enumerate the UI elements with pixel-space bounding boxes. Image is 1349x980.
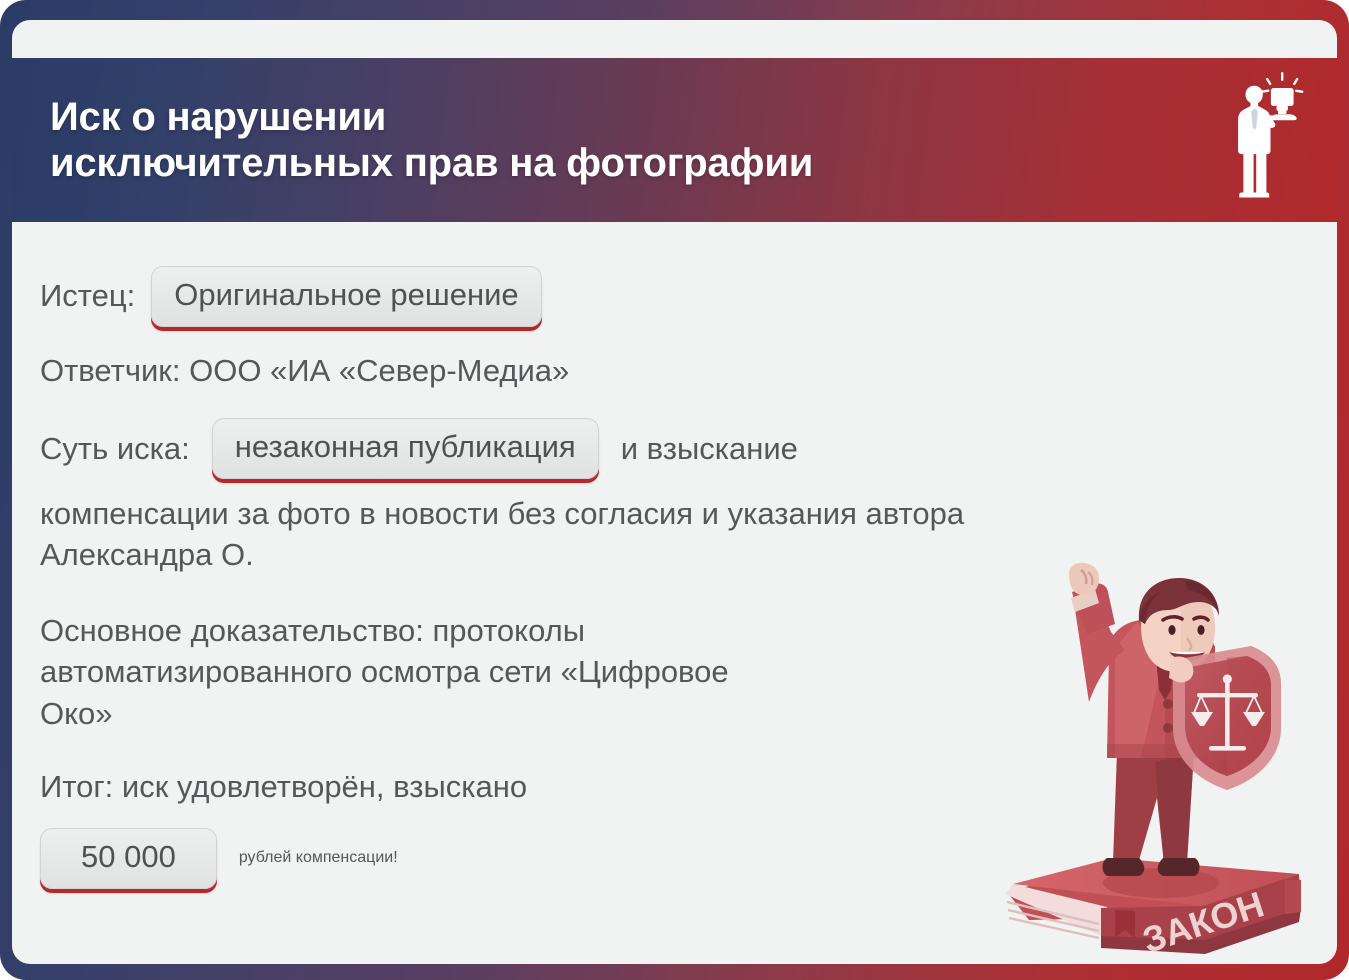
- poster-frame: Иск о нарушении исключительных прав на ф…: [0, 0, 1349, 980]
- claim-after-pill-text: и взыскание: [621, 429, 798, 469]
- compensation-suffix-text: рублей компенсации!: [239, 849, 398, 867]
- shield-outer: [1173, 646, 1281, 790]
- defendant-row: Ответчик: ООО «ИА «Север-Медиа»: [40, 351, 1307, 391]
- claim-continuation-text: компенсации за фото в новости без соглас…: [40, 493, 1085, 576]
- shield-inner: [1185, 656, 1271, 776]
- defendant-text: Ответчик: ООО «ИА «Север-Медиа»: [40, 351, 569, 391]
- plaintiff-label: Истец:: [40, 276, 135, 316]
- amount-row: 50 000 рублей компенсации!: [40, 828, 1307, 889]
- lawyer-with-justice-shield-illustration: ЗАКОН: [989, 562, 1319, 962]
- claim-pill[interactable]: незаконная публикация: [212, 418, 599, 479]
- page-title: Иск о нарушении исключительных прав на ф…: [50, 94, 813, 187]
- scales-of-justice-icon: [1191, 674, 1265, 750]
- claim-row: Суть иска: незаконная публикация и взыск…: [40, 418, 1307, 479]
- evidence-text: Основное доказательство: протоколы автом…: [40, 610, 800, 735]
- claim-label: Суть иска:: [40, 429, 190, 469]
- result-text: Итог: иск удовлетворён, взыскано: [40, 766, 1080, 808]
- book-label: ЗАКОН: [1138, 883, 1269, 960]
- content-card: Иск о нарушении исключительных прав на ф…: [12, 20, 1337, 964]
- plaintiff-pill[interactable]: Оригинальное решение: [151, 266, 541, 327]
- header-band: Иск о нарушении исключительных прав на ф…: [12, 58, 1337, 222]
- compensation-amount-pill[interactable]: 50 000: [40, 828, 217, 889]
- case-details: Истец: Оригинальное решение Ответчик: ОО…: [12, 222, 1337, 964]
- businessman-with-lightbulb-icon: [1207, 70, 1311, 210]
- plaintiff-row: Истец: Оригинальное решение: [40, 266, 1307, 327]
